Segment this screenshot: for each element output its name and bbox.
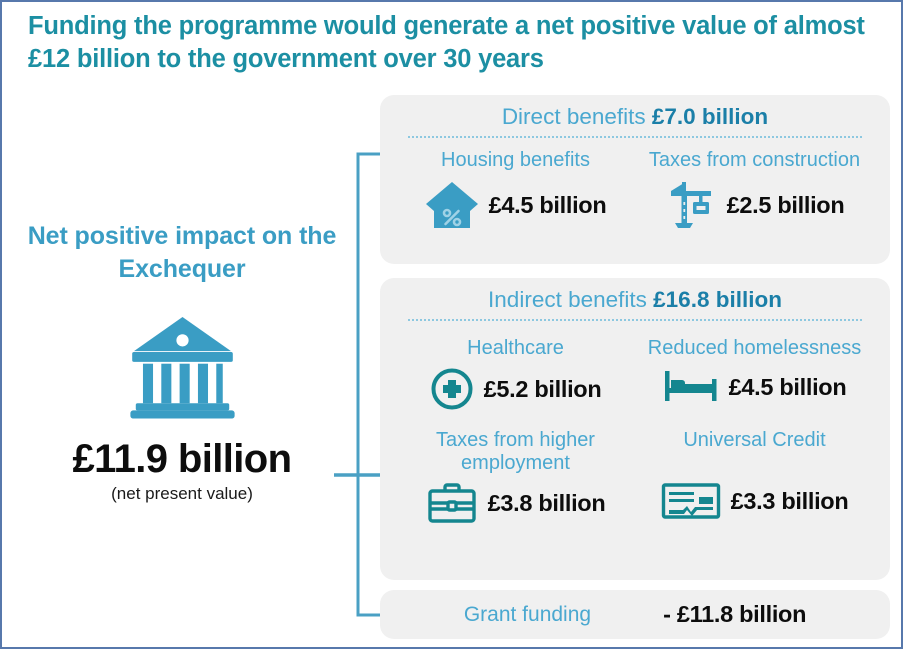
panel-grant-funding: Grant funding - £11.8 billion: [380, 590, 890, 639]
panel-direct-benefits: Direct benefits £7.0 billion Housing ben…: [380, 95, 890, 264]
item-taxes-from-construction: Taxes from construction: [635, 149, 874, 230]
item-value: £5.2 billion: [484, 376, 602, 403]
item-label: Healthcare: [396, 337, 635, 361]
infographic-root: Funding the programme would generate a n…: [0, 0, 903, 649]
item-taxes-from-higher-employment: Taxes from higher employment: [396, 429, 635, 525]
crane-icon: [665, 180, 717, 230]
bank-classical-building-icon: [22, 305, 342, 425]
divider: [408, 136, 862, 140]
item-label: Taxes from construction: [635, 149, 874, 173]
page-title: Funding the programme would generate a n…: [28, 10, 868, 75]
item-universal-credit: Universal Credit £3.: [635, 429, 874, 525]
house-percent-icon: [425, 180, 479, 230]
item-value: £4.5 billion: [729, 374, 847, 401]
net-impact-subtitle: (net present value): [22, 484, 342, 504]
indirect-items-row1: Healthcare £5.2 billion Reduced homeless…: [380, 337, 890, 411]
net-impact-heading: Net positive impact on the Exchequer: [22, 220, 342, 285]
item-label: Universal Credit: [635, 429, 874, 475]
item-reduced-homelessness: Reduced homelessness: [635, 337, 874, 411]
bed-icon: [663, 367, 719, 407]
cheque-icon: [661, 481, 721, 521]
item-value: £3.8 billion: [488, 490, 606, 517]
item-value: £2.5 billion: [727, 192, 845, 219]
item-healthcare: Healthcare £5.2 billion: [396, 337, 635, 411]
panel-direct-header: Direct benefits £7.0 billion: [380, 95, 890, 130]
item-value: £3.3 billion: [731, 488, 849, 515]
item-label: Reduced homelessness: [635, 337, 874, 361]
grant-funding-label: Grant funding: [464, 603, 591, 627]
net-impact-value: £11.9 billion: [22, 437, 342, 482]
item-value: £4.5 billion: [489, 192, 607, 219]
direct-items: Housing benefits: [380, 149, 890, 230]
panel-direct-header-value: £7.0 billion: [652, 104, 768, 129]
panel-indirect-benefits: Indirect benefits £16.8 billion Healthca…: [380, 278, 890, 580]
medical-cross-circle-icon: [430, 367, 474, 411]
panel-direct-header-label: Direct benefits: [502, 104, 646, 129]
grant-funding-value: - £11.8 billion: [663, 601, 806, 628]
panel-indirect-header: Indirect benefits £16.8 billion: [380, 278, 890, 313]
net-impact-summary: Net positive impact on the Exchequer £11…: [22, 220, 342, 504]
briefcase-icon: [426, 481, 478, 525]
panel-indirect-header-value: £16.8 billion: [653, 287, 782, 312]
item-label: Housing benefits: [396, 149, 635, 173]
item-label: Taxes from higher employment: [396, 429, 635, 475]
item-housing-benefits: Housing benefits: [396, 149, 635, 230]
panel-indirect-header-label: Indirect benefits: [488, 287, 647, 312]
indirect-items-row2: Taxes from higher employment: [380, 429, 890, 525]
divider: [408, 319, 862, 323]
